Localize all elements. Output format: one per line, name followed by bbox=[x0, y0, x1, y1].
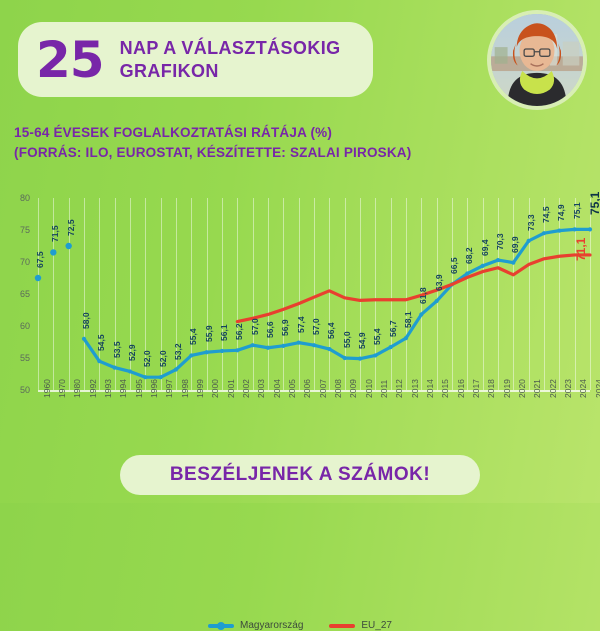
data-point-hungary-1970 bbox=[50, 249, 56, 255]
data-point-hungary-1998 bbox=[174, 367, 178, 371]
data-point-hungary-2015 bbox=[435, 299, 439, 303]
data-point-hungary-2001 bbox=[220, 349, 224, 353]
x-tick-label-34: 2023 bbox=[563, 379, 573, 398]
value-label-hungary-1997: 52,0 bbox=[158, 351, 168, 368]
x-tick-label-17: 2006 bbox=[302, 379, 312, 398]
value-label-hungary-2012: 56,7 bbox=[388, 321, 398, 338]
x-tick-label-23: 2012 bbox=[394, 379, 404, 398]
value-label-hungary-1993: 54,5 bbox=[96, 335, 106, 352]
data-point-hungary-2009 bbox=[343, 356, 347, 360]
x-tick-label-10: 1999 bbox=[195, 379, 205, 398]
x-tick-label-3: 1992 bbox=[88, 379, 98, 398]
data-point-hungary-2005 bbox=[281, 344, 285, 348]
series-lines bbox=[0, 190, 600, 400]
value-label-hungary-2001: 56,1 bbox=[219, 324, 229, 341]
legend-swatch-hungary bbox=[208, 624, 234, 628]
data-point-hungary-1999 bbox=[189, 353, 193, 357]
data-point-hungary-2024 bbox=[573, 227, 577, 231]
portrait-photo-icon bbox=[491, 14, 583, 106]
x-tick-label-0: 1960 bbox=[42, 379, 52, 398]
data-point-hungary-2017 bbox=[465, 271, 469, 275]
data-point-hungary-2019 bbox=[496, 258, 500, 262]
x-tick-label-2: 1980 bbox=[72, 379, 82, 398]
value-label-hungary-1996: 52,0 bbox=[142, 351, 152, 368]
value-label-hungary-2009: 55,0 bbox=[342, 331, 352, 348]
data-point-hungary-2008 bbox=[327, 347, 331, 351]
x-tick-label-31: 2020 bbox=[517, 379, 527, 398]
data-point-hungary-1960 bbox=[35, 275, 41, 281]
x-tick-label-19: 2008 bbox=[333, 379, 343, 398]
value-label-hungary-1999: 55,4 bbox=[188, 329, 198, 346]
legend-label-eu27: EU_27 bbox=[361, 620, 392, 631]
data-point-hungary-1993 bbox=[97, 359, 101, 363]
chart-legend: Magyarország EU_27 bbox=[0, 620, 600, 631]
value-label-hungary-2002: 56,2 bbox=[234, 324, 244, 341]
title-line-2: GRAFIKON bbox=[120, 60, 341, 83]
x-tick-label-25: 2014 bbox=[425, 379, 435, 398]
legend-item-eu27[interactable]: EU_27 bbox=[329, 620, 392, 631]
data-point-hungary-2014 bbox=[419, 312, 423, 316]
value-label-hungary-2013: 58,1 bbox=[403, 312, 413, 329]
value-label-hungary-2018: 69,4 bbox=[480, 239, 490, 256]
x-tick-label-27: 2016 bbox=[456, 379, 466, 398]
data-point-hungary-2023 bbox=[557, 229, 561, 233]
data-point-hungary-2018 bbox=[481, 264, 485, 268]
x-tick-label-8: 1997 bbox=[164, 379, 174, 398]
title-line-1: NAP A VÁLASZTÁSOKIG bbox=[120, 37, 341, 60]
data-point-hungary-2003 bbox=[251, 343, 255, 347]
value-label-hungary-1998: 53,2 bbox=[173, 343, 183, 360]
x-tick-label-36: 2024 bbox=[594, 379, 600, 398]
data-point-hungary-2013 bbox=[404, 336, 408, 340]
data-point-hungary-2020 bbox=[511, 261, 515, 265]
x-tick-label-5: 1994 bbox=[118, 379, 128, 398]
title-lines: NAP A VÁLASZTÁSOKIG GRAFIKON bbox=[120, 37, 341, 82]
x-tick-label-12: 2001 bbox=[226, 379, 236, 398]
x-tick-label-7: 1996 bbox=[149, 379, 159, 398]
data-point-hungary-1995 bbox=[128, 369, 132, 373]
x-tick-label-13: 2002 bbox=[241, 379, 251, 398]
chart: 50556065707580 1960197019801992199319941… bbox=[0, 190, 600, 445]
x-tick-label-21: 2010 bbox=[364, 379, 374, 398]
value-label-hungary-1992: 58,0 bbox=[81, 312, 91, 329]
value-label-hungary-2019: 70,3 bbox=[495, 234, 505, 251]
value-label-hungary-2006: 57,4 bbox=[296, 316, 306, 333]
data-point-hungary-1980 bbox=[65, 243, 71, 249]
data-point-hungary-1997 bbox=[159, 375, 163, 379]
x-tick-label-35: 2024 bbox=[578, 379, 588, 398]
data-point-hungary-2011 bbox=[373, 353, 377, 357]
value-label-hungary-1995: 52,9 bbox=[127, 345, 137, 362]
subtitle-line-2: (FORRÁS: ILO, EUROSTAT, KÉSZÍTETTE: SZAL… bbox=[14, 143, 411, 163]
x-tick-label-26: 2015 bbox=[440, 379, 450, 398]
x-tick-label-11: 2000 bbox=[210, 379, 220, 398]
value-label-hungary-2000: 55,9 bbox=[204, 326, 214, 343]
value-label-hungary-2022: 74,5 bbox=[541, 207, 551, 224]
value-label-hungary-2003: 57,0 bbox=[250, 319, 260, 336]
value-label-hungary-2015: 63,9 bbox=[434, 274, 444, 291]
value-label-hungary-1994: 53,5 bbox=[112, 341, 122, 358]
data-point-hungary-2022 bbox=[542, 231, 546, 235]
x-tick-label-28: 2017 bbox=[471, 379, 481, 398]
data-point-hungary-2004 bbox=[266, 346, 270, 350]
value-label-hungary-2020: 69,9 bbox=[510, 236, 520, 253]
x-tick-label-4: 1993 bbox=[103, 379, 113, 398]
value-label-hungary-2021: 73,3 bbox=[526, 214, 536, 231]
value-label-hungary-2014: 61,8 bbox=[418, 288, 428, 305]
x-tick-label-6: 1995 bbox=[134, 379, 144, 398]
legend-swatch-eu27 bbox=[329, 624, 355, 628]
x-tick-label-22: 2011 bbox=[379, 380, 389, 398]
value-label-hungary-2017: 68,2 bbox=[464, 247, 474, 264]
data-point-hungary-2021 bbox=[527, 239, 531, 243]
legend-label-hungary: Magyarország bbox=[240, 620, 303, 631]
data-point-hungary-1994 bbox=[113, 366, 117, 370]
x-tick-label-30: 2019 bbox=[502, 379, 512, 398]
chart-subtitle: 15-64 ÉVESEK FOGLALKOZTATÁSI RÁTÁJA (%) … bbox=[14, 123, 411, 164]
data-point-hungary-2012 bbox=[389, 345, 393, 349]
x-tick-label-18: 2007 bbox=[318, 379, 328, 398]
value-label-hungary-2024: 75,1 bbox=[588, 192, 600, 215]
x-tick-label-20: 2009 bbox=[348, 379, 358, 398]
value-label-hungary-1960: 67,5 bbox=[35, 251, 45, 268]
value-label-hungary-2024: 75,1 bbox=[572, 203, 582, 220]
value-label-hungary-2008: 56,4 bbox=[326, 322, 336, 339]
data-point-hungary-2024 bbox=[588, 227, 592, 231]
x-tick-label-1: 1970 bbox=[57, 379, 67, 398]
value-label-hungary-2011: 55,4 bbox=[372, 329, 382, 346]
value-label-hungary-1970: 71,5 bbox=[50, 226, 60, 243]
value-label-hungary-2005: 56,9 bbox=[280, 319, 290, 336]
data-point-hungary-2007 bbox=[312, 343, 316, 347]
x-tick-label-9: 1998 bbox=[180, 379, 190, 398]
header-banner: 25 NAP A VÁLASZTÁSOKIG GRAFIKON bbox=[0, 0, 600, 115]
data-point-hungary-2000 bbox=[205, 350, 209, 354]
data-point-hungary-1992 bbox=[82, 337, 86, 341]
legend-item-hungary[interactable]: Magyarország bbox=[208, 620, 303, 631]
value-label-hungary-2016: 66,5 bbox=[449, 258, 459, 275]
countdown-number: 25 bbox=[36, 35, 104, 85]
subtitle-line-1: 15-64 ÉVESEK FOGLALKOZTATÁSI RÁTÁJA (%) bbox=[14, 123, 411, 143]
value-label-hungary-2023: 74,9 bbox=[556, 204, 566, 221]
x-tick-label-29: 2018 bbox=[486, 379, 496, 398]
value-label-hungary-2004: 56,6 bbox=[265, 321, 275, 338]
data-point-hungary-2006 bbox=[297, 341, 301, 345]
data-point-hungary-2010 bbox=[358, 357, 362, 361]
x-tick-label-33: 2022 bbox=[548, 379, 558, 398]
value-label-hungary-2010: 54,9 bbox=[357, 332, 367, 349]
x-tick-label-15: 2004 bbox=[272, 379, 282, 398]
value-label-hungary-1980: 72,5 bbox=[66, 219, 76, 236]
x-tick-label-24: 2013 bbox=[410, 379, 420, 398]
value-label-eu27-2024: 71,1 bbox=[574, 238, 588, 261]
footer-banner: BESZÉLJENEK A SZÁMOK! bbox=[120, 455, 480, 495]
data-point-hungary-2002 bbox=[235, 348, 239, 352]
value-label-hungary-2007: 57,0 bbox=[311, 319, 321, 336]
avatar bbox=[487, 10, 587, 110]
title-card: 25 NAP A VÁLASZTÁSOKIG GRAFIKON bbox=[18, 22, 373, 97]
x-tick-label-14: 2003 bbox=[256, 379, 266, 398]
x-tick-label-32: 2021 bbox=[532, 379, 542, 398]
x-tick-label-16: 2005 bbox=[287, 379, 297, 398]
footer-text: BESZÉLJENEK A SZÁMOK! bbox=[170, 464, 430, 486]
